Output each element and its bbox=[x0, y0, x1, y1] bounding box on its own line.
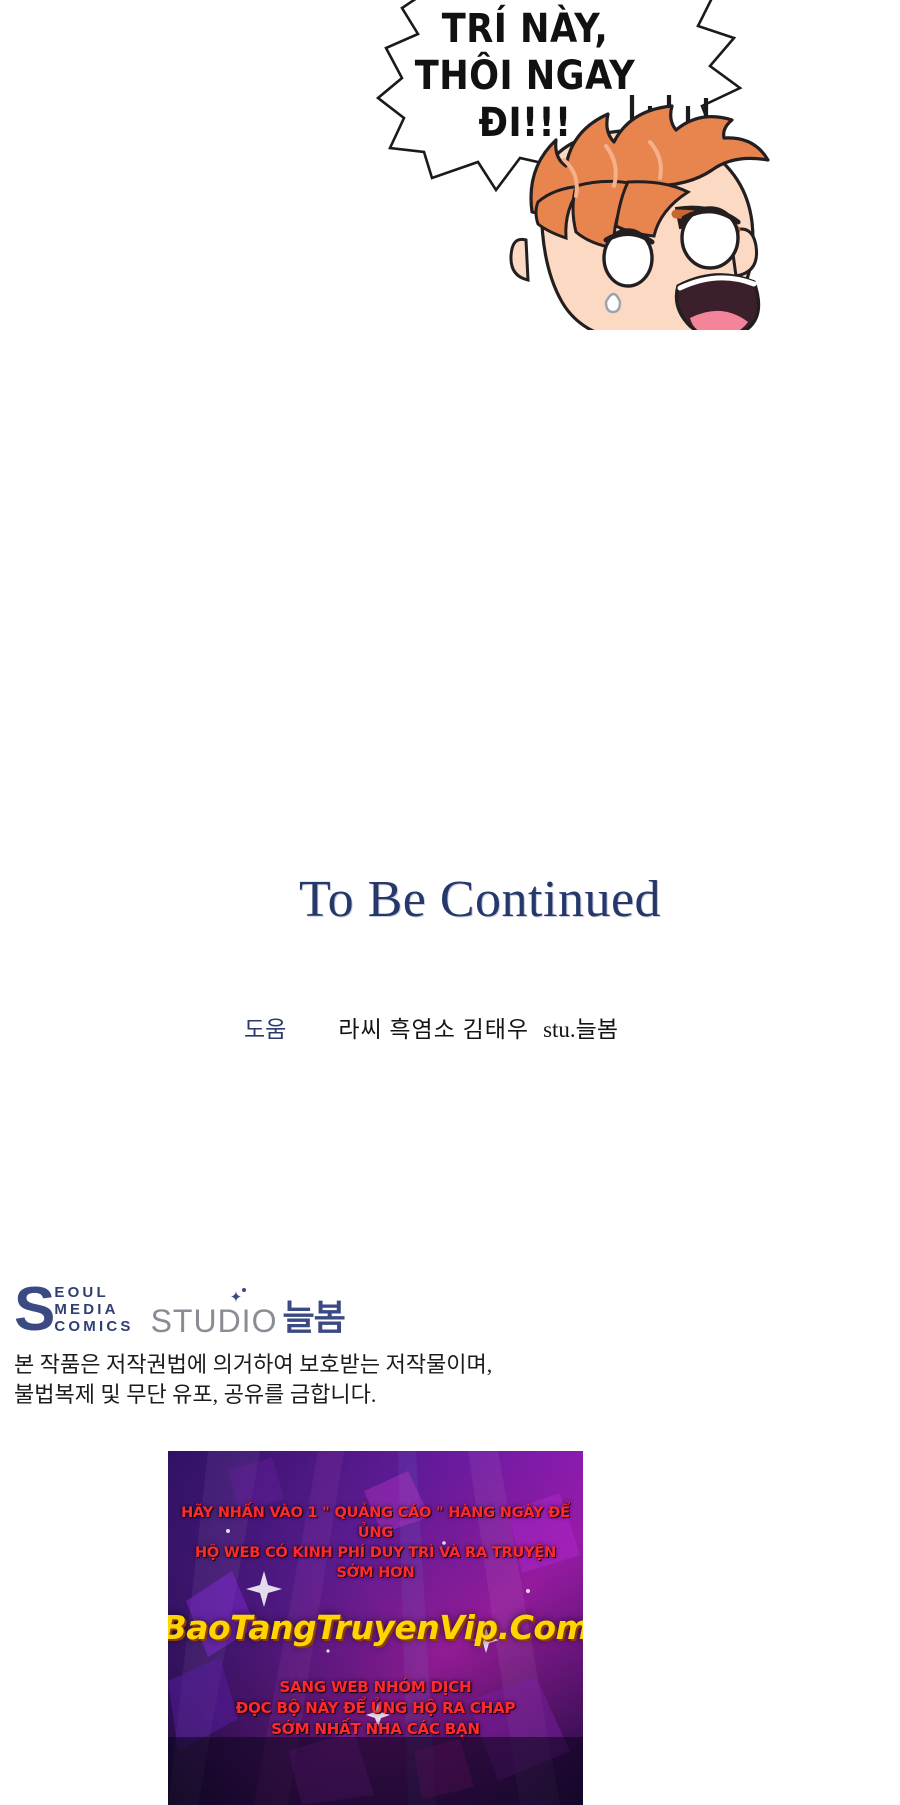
ad-bottom-message: SANG WEB NHÓM DỊCH ĐỌC BỘ NÀY ĐỂ ỦNG HỘ … bbox=[176, 1677, 576, 1740]
studio-name: 늘봄 bbox=[282, 1302, 344, 1337]
seoul-media-monogram-icon: S bbox=[14, 1281, 53, 1339]
studio-wordmark: STUDIO bbox=[151, 1305, 278, 1337]
seoul-media-wordmark: EOUL MEDIA COMICS bbox=[54, 1284, 133, 1336]
credits-line: 도움라씨 흑염소 김태우stu.늘봄 bbox=[0, 1010, 900, 1044]
ad-text-content: HÃY NHẤN VÀO 1 " QUẢNG CÁO " HÀNG NGÀY Đ… bbox=[168, 1451, 583, 1805]
credits-studio: stu.늘봄 bbox=[543, 1017, 618, 1042]
copyright-notice: 본 작품은 저작권법에 의거하여 보호받는 저작물이며, 불법복제 및 무단 유… bbox=[14, 1350, 714, 1410]
seoul-media-line-2: MEDIA bbox=[54, 1301, 133, 1318]
sparkle-dot-icon bbox=[242, 1288, 246, 1292]
character-head bbox=[480, 90, 770, 330]
seoul-media-line-1: EOUL bbox=[54, 1284, 133, 1301]
sparkle-star-icon: ✦ bbox=[230, 1291, 246, 1305]
to-be-continued-text: To Be Continued bbox=[299, 870, 661, 929]
publisher-logo-row: S EOUL MEDIA COMICS STUDIO ✦ 늘봄 bbox=[14, 1275, 434, 1341]
ad-banner[interactable]: HÃY NHẤN VÀO 1 " QUẢNG CÁO " HÀNG NGÀY Đ… bbox=[168, 1451, 583, 1805]
ad-domain-link[interactable]: BaoTangTruyenVip.Com bbox=[168, 1609, 583, 1647]
sweat-drop bbox=[606, 294, 620, 312]
credits-label: 도움 bbox=[244, 1017, 286, 1042]
credits-names: 라씨 흑염소 김태우 bbox=[338, 1017, 529, 1042]
comic-panel-top: TRÍ NÀY, THÔI NGAY ĐI!!! bbox=[0, 0, 900, 560]
ad-top-message: HÃY NHẤN VÀO 1 " QUẢNG CÁO " HÀNG NGÀY Đ… bbox=[176, 1503, 576, 1583]
seoul-media-comics-logo: S EOUL MEDIA COMICS bbox=[14, 1279, 134, 1341]
seoul-media-line-3: COMICS bbox=[54, 1318, 133, 1335]
studio-neulbom-logo: STUDIO ✦ 늘봄 bbox=[151, 1302, 345, 1341]
to-be-continued-block: To Be Continued bbox=[0, 870, 900, 929]
